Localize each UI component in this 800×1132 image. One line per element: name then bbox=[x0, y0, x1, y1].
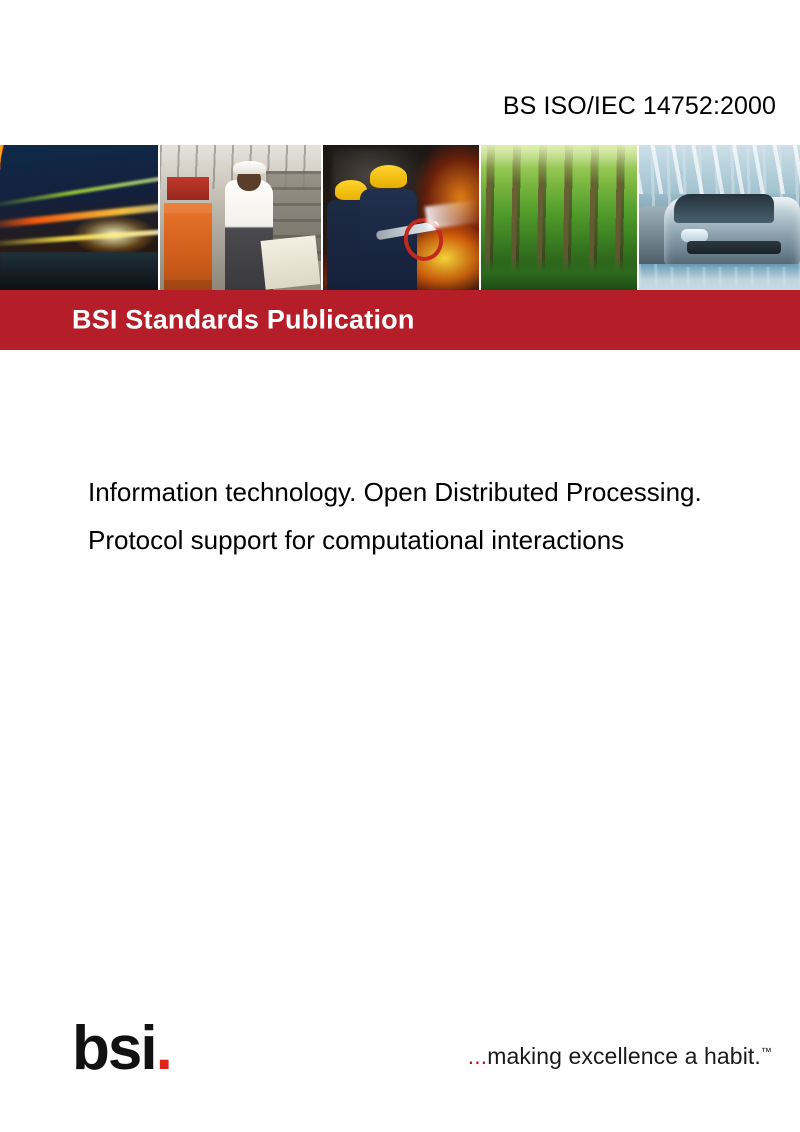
cover-photo-strip bbox=[0, 145, 800, 290]
forest-floor bbox=[481, 258, 636, 290]
bsi-logo-dot: . bbox=[156, 1014, 171, 1083]
standard-number: BS ISO/IEC 14752:2000 bbox=[503, 92, 776, 121]
bsi-logo-wordmark: bsi bbox=[72, 1014, 156, 1083]
brand-tagline: ...making excellence a habit.™ bbox=[468, 1043, 772, 1070]
tagline-text: making excellence a habit. bbox=[487, 1043, 761, 1069]
photo-panel-car-assembly-line bbox=[639, 145, 800, 290]
brand-banner-label: BSI Standards Publication bbox=[72, 305, 415, 336]
cover-page: BS ISO/IEC 14752:2000 bbox=[0, 0, 800, 1132]
cardboard-box bbox=[261, 235, 320, 290]
road-surface bbox=[0, 252, 158, 290]
tagline-ellipsis: ... bbox=[468, 1043, 487, 1069]
photo-panel-warehouse-worker bbox=[160, 145, 322, 290]
orange-crate-stack bbox=[164, 203, 212, 290]
brand-banner: BSI Standards Publication bbox=[0, 290, 800, 350]
worker-hard-hat bbox=[233, 161, 267, 174]
red-crate bbox=[167, 177, 209, 200]
factory-ceiling-lights bbox=[639, 145, 800, 194]
car-grille bbox=[687, 241, 781, 254]
page-title: Information technology. Open Distributed… bbox=[88, 468, 768, 564]
trademark-symbol: ™ bbox=[761, 1046, 772, 1058]
firefighter-front-helmet bbox=[370, 165, 408, 188]
photo-panel-forest bbox=[481, 145, 638, 290]
photo-panel-firefighters bbox=[323, 145, 481, 290]
forest-canopy-light bbox=[481, 145, 636, 183]
car-windshield bbox=[674, 194, 774, 223]
bsi-logo: bsi. bbox=[72, 1018, 171, 1080]
factory-floor bbox=[639, 264, 800, 290]
photo-panel-light-trails-at-night bbox=[0, 145, 160, 290]
